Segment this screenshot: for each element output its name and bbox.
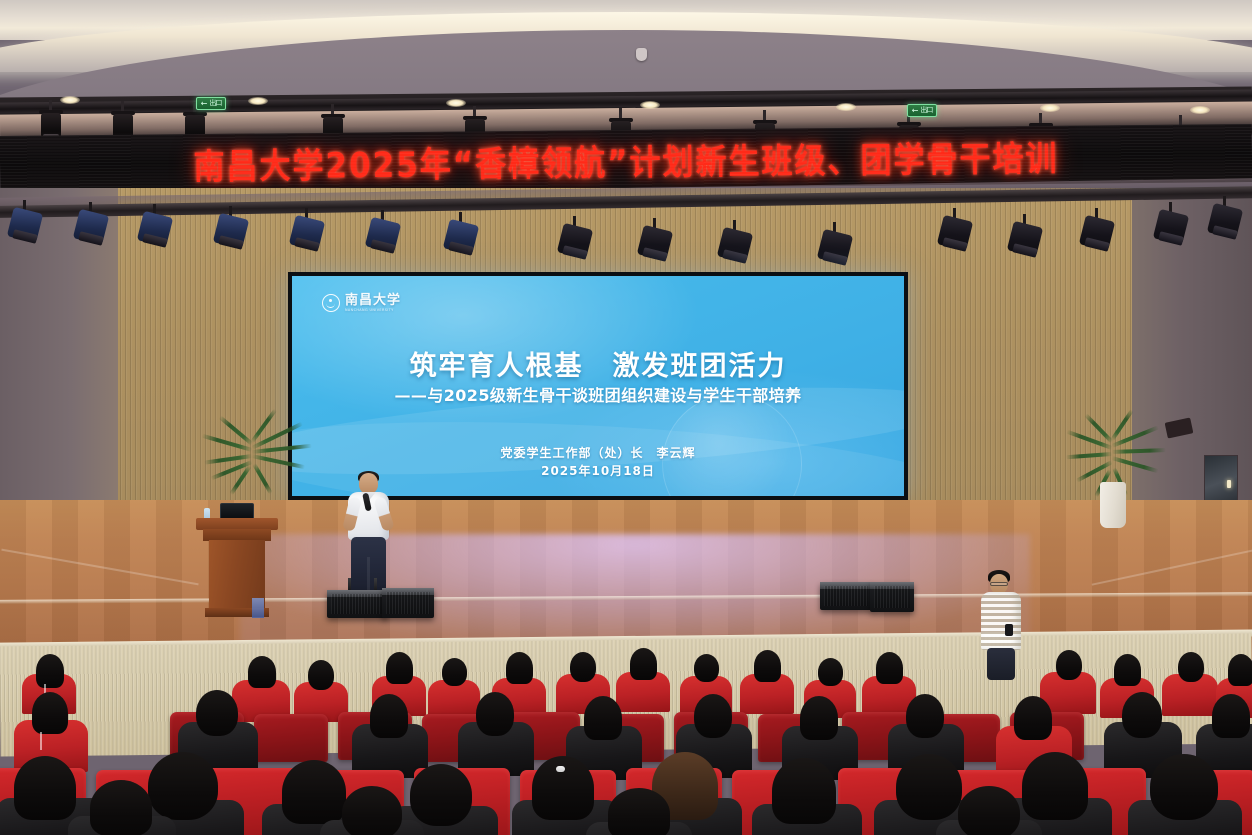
- audience-member-head: [800, 696, 838, 740]
- downlight-icon: [446, 99, 466, 107]
- audience-member-head: [630, 648, 657, 680]
- audience-member-head: [1150, 754, 1218, 820]
- slide-subtitle: ——与2025级新生骨干谈班团组织建设与学生干部培养: [292, 382, 904, 406]
- audience-member-head: [410, 764, 472, 826]
- slide-logo: 南昌大学 NANCHANG UNIVERSITY: [322, 294, 401, 312]
- audience-member-head: [370, 694, 408, 738]
- smoke-detector-icon: [636, 48, 647, 61]
- audience-member-head: [90, 780, 152, 835]
- audience-member-head: [754, 650, 781, 682]
- slide-logo-wordmark: 南昌大学 NANCHANG UNIVERSITY: [345, 294, 401, 312]
- audience-member-head: [308, 660, 334, 690]
- audience-member-head: [1178, 652, 1204, 682]
- audience-member-head: [442, 658, 467, 686]
- exit-sign-label: 出口: [209, 100, 221, 107]
- stage-monitor-speaker: [820, 582, 872, 610]
- audience-member-head: [36, 654, 64, 688]
- audience-member-head: [1022, 752, 1088, 820]
- projection-screen: 南昌大学 NANCHANG UNIVERSITY 筑牢育人根基 激发班团活力 —…: [292, 276, 904, 496]
- nanchang-university-emblem-icon: [322, 294, 340, 312]
- floor-uplight: [252, 598, 264, 618]
- downlight-icon: [248, 97, 268, 105]
- audience-member-head: [282, 760, 346, 824]
- audience-member-head: [1212, 694, 1250, 738]
- presenter-trousers: [351, 537, 386, 595]
- audience-member-head: [14, 756, 76, 820]
- audience-member-head: [476, 692, 514, 736]
- potted-plant-left: [200, 432, 320, 528]
- audience-member-head: [896, 754, 962, 820]
- staff-striped-shirt: [981, 592, 1021, 650]
- audience-member-head: [876, 652, 903, 684]
- audience-member-head: [906, 694, 944, 738]
- audience-member-head: [248, 656, 276, 688]
- exit-arrow-icon: ←: [912, 107, 919, 115]
- exit-sign-label: 出口: [920, 107, 932, 114]
- mobile-phone-icon: [1005, 624, 1013, 636]
- exit-sign: ← 出口: [196, 97, 226, 110]
- audience-member-head: [570, 652, 596, 682]
- audience-section: [0, 648, 1252, 835]
- audience-member-head: [1114, 654, 1141, 686]
- stage-monitor-speaker: [382, 588, 434, 618]
- hair-clip: [556, 766, 565, 772]
- downlight-icon: [60, 96, 80, 104]
- audience-member-head: [608, 788, 670, 835]
- lanyard: [40, 732, 42, 750]
- audience-member-head: [32, 692, 68, 734]
- audience-member-head: [584, 696, 622, 740]
- led-banner-text: 南昌大学2025年“香樟领航”计划新生班级、团学骨干培训: [193, 130, 1058, 189]
- downlight-icon: [1040, 104, 1060, 112]
- audience-member-head: [772, 758, 836, 824]
- audience-member-head: [386, 652, 413, 684]
- stage-monitor-speaker: [870, 582, 914, 612]
- auditorium-seat: [254, 714, 328, 762]
- audience-member-head: [694, 654, 719, 682]
- downlight-icon: [836, 103, 856, 111]
- audience-member-head: [1056, 650, 1082, 680]
- audience-member-head: [506, 652, 533, 684]
- audience-member-head: [958, 786, 1020, 835]
- audience-member-head: [148, 752, 218, 820]
- auditorium-photo: ← 出口 ← 出口 南昌大学2025年“香樟领航”计划新生班级、团学骨干培训: [0, 0, 1252, 835]
- potted-plant-right: [1064, 432, 1184, 542]
- slide-title: 筑牢育人根基 激发班团活力: [292, 344, 904, 383]
- lectern: [196, 518, 278, 618]
- slide-logo-latin: NANCHANG UNIVERSITY: [345, 309, 401, 312]
- presenter-head: [359, 473, 378, 494]
- audience-member-head: [342, 786, 402, 835]
- audience-member-head: [694, 694, 732, 738]
- stage-monitor-speaker: [327, 590, 387, 618]
- plant-pot: [1100, 482, 1126, 528]
- audience-member-head: [1014, 696, 1052, 740]
- slide-presenter: 党委学生工作部（处）长 李云辉: [292, 444, 904, 461]
- audience-member-head: [818, 658, 843, 686]
- audience-member-head: [1228, 654, 1252, 686]
- downlight-icon: [1190, 106, 1210, 114]
- glasses-icon: [990, 582, 1008, 586]
- exit-arrow-icon: ←: [201, 100, 208, 108]
- audience-member-head: [1122, 692, 1162, 738]
- exit-sign: ← 出口: [907, 104, 937, 117]
- downlight-icon: [640, 101, 660, 109]
- audience-member-head: [196, 690, 238, 736]
